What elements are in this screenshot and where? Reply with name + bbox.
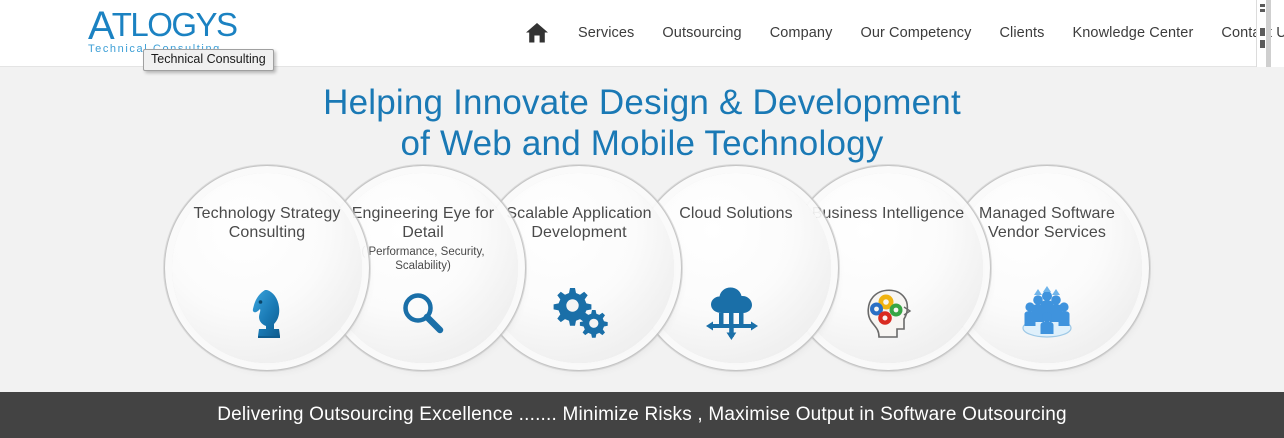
- cloud-network-icon: [702, 285, 770, 341]
- chess-knight-icon: [247, 285, 287, 341]
- logo-letter-a: A: [88, 4, 112, 48]
- nav-item-outsourcing[interactable]: Outsourcing: [648, 21, 755, 45]
- nav-item-our-competency[interactable]: Our Competency: [846, 21, 985, 45]
- circle-title: Scalable Application Development: [497, 205, 662, 242]
- hero-headline: Helping Innovate Design & Development of…: [0, 82, 1284, 164]
- home-icon[interactable]: [520, 18, 554, 48]
- scroll-marker: [1260, 4, 1265, 7]
- circle-title: Managed Software Vendor Services: [965, 205, 1130, 242]
- scroll-marker: [1260, 9, 1265, 12]
- gears-icon: [548, 285, 610, 341]
- site-header: ATLOGYS Technical Consulting Technical C…: [0, 0, 1270, 67]
- service-circles: Technology Strategy Consulting: [0, 173, 1284, 373]
- scroll-marker: [1260, 28, 1265, 36]
- hero-section: Helping Innovate Design & Development of…: [0, 67, 1284, 392]
- headline-line-2: of Web and Mobile Technology: [0, 123, 1284, 164]
- banner-text: Delivering Outsourcing Excellence ......…: [217, 404, 1067, 426]
- circle-subtitle: ( Performance, Security, Scalability): [348, 245, 498, 273]
- circle-title: Cloud Solutions: [679, 205, 793, 224]
- people-group-icon: [1016, 285, 1078, 341]
- nav-item-knowledge-center[interactable]: Knowledge Center: [1058, 21, 1207, 45]
- headline-line-1: Helping Innovate Design & Development: [323, 83, 961, 122]
- window-right-edge: [1256, 0, 1270, 67]
- circle-title: Engineering Eye for Detail: [341, 205, 506, 242]
- logo-tooltip: Technical Consulting: [143, 49, 274, 71]
- nav-item-company[interactable]: Company: [756, 21, 847, 45]
- logo-letters-rest: TLOGYS: [112, 6, 237, 43]
- scrollbar-track[interactable]: [1266, 0, 1271, 67]
- circle-title: Technology Strategy Consulting: [185, 205, 350, 242]
- magnifier-icon: [399, 285, 447, 341]
- head-gears-icon: [859, 285, 917, 341]
- nav-item-services[interactable]: Services: [564, 21, 648, 45]
- main-navigation: Services Outsourcing Company Our Compete…: [520, 0, 1284, 66]
- nav-item-contact-us[interactable]: Contact Us: [1207, 21, 1284, 45]
- scroll-marker: [1260, 40, 1265, 48]
- page-root: ATLOGYS Technical Consulting Technical C…: [0, 0, 1284, 438]
- tagline-banner: Delivering Outsourcing Excellence ......…: [0, 392, 1284, 438]
- service-circle-technology-strategy-consulting[interactable]: Technology Strategy Consulting: [172, 173, 362, 363]
- circle-title: Business Intelligence: [812, 205, 964, 224]
- logo-wordmark: ATLOGYS: [88, 6, 233, 42]
- nav-item-clients[interactable]: Clients: [985, 21, 1058, 45]
